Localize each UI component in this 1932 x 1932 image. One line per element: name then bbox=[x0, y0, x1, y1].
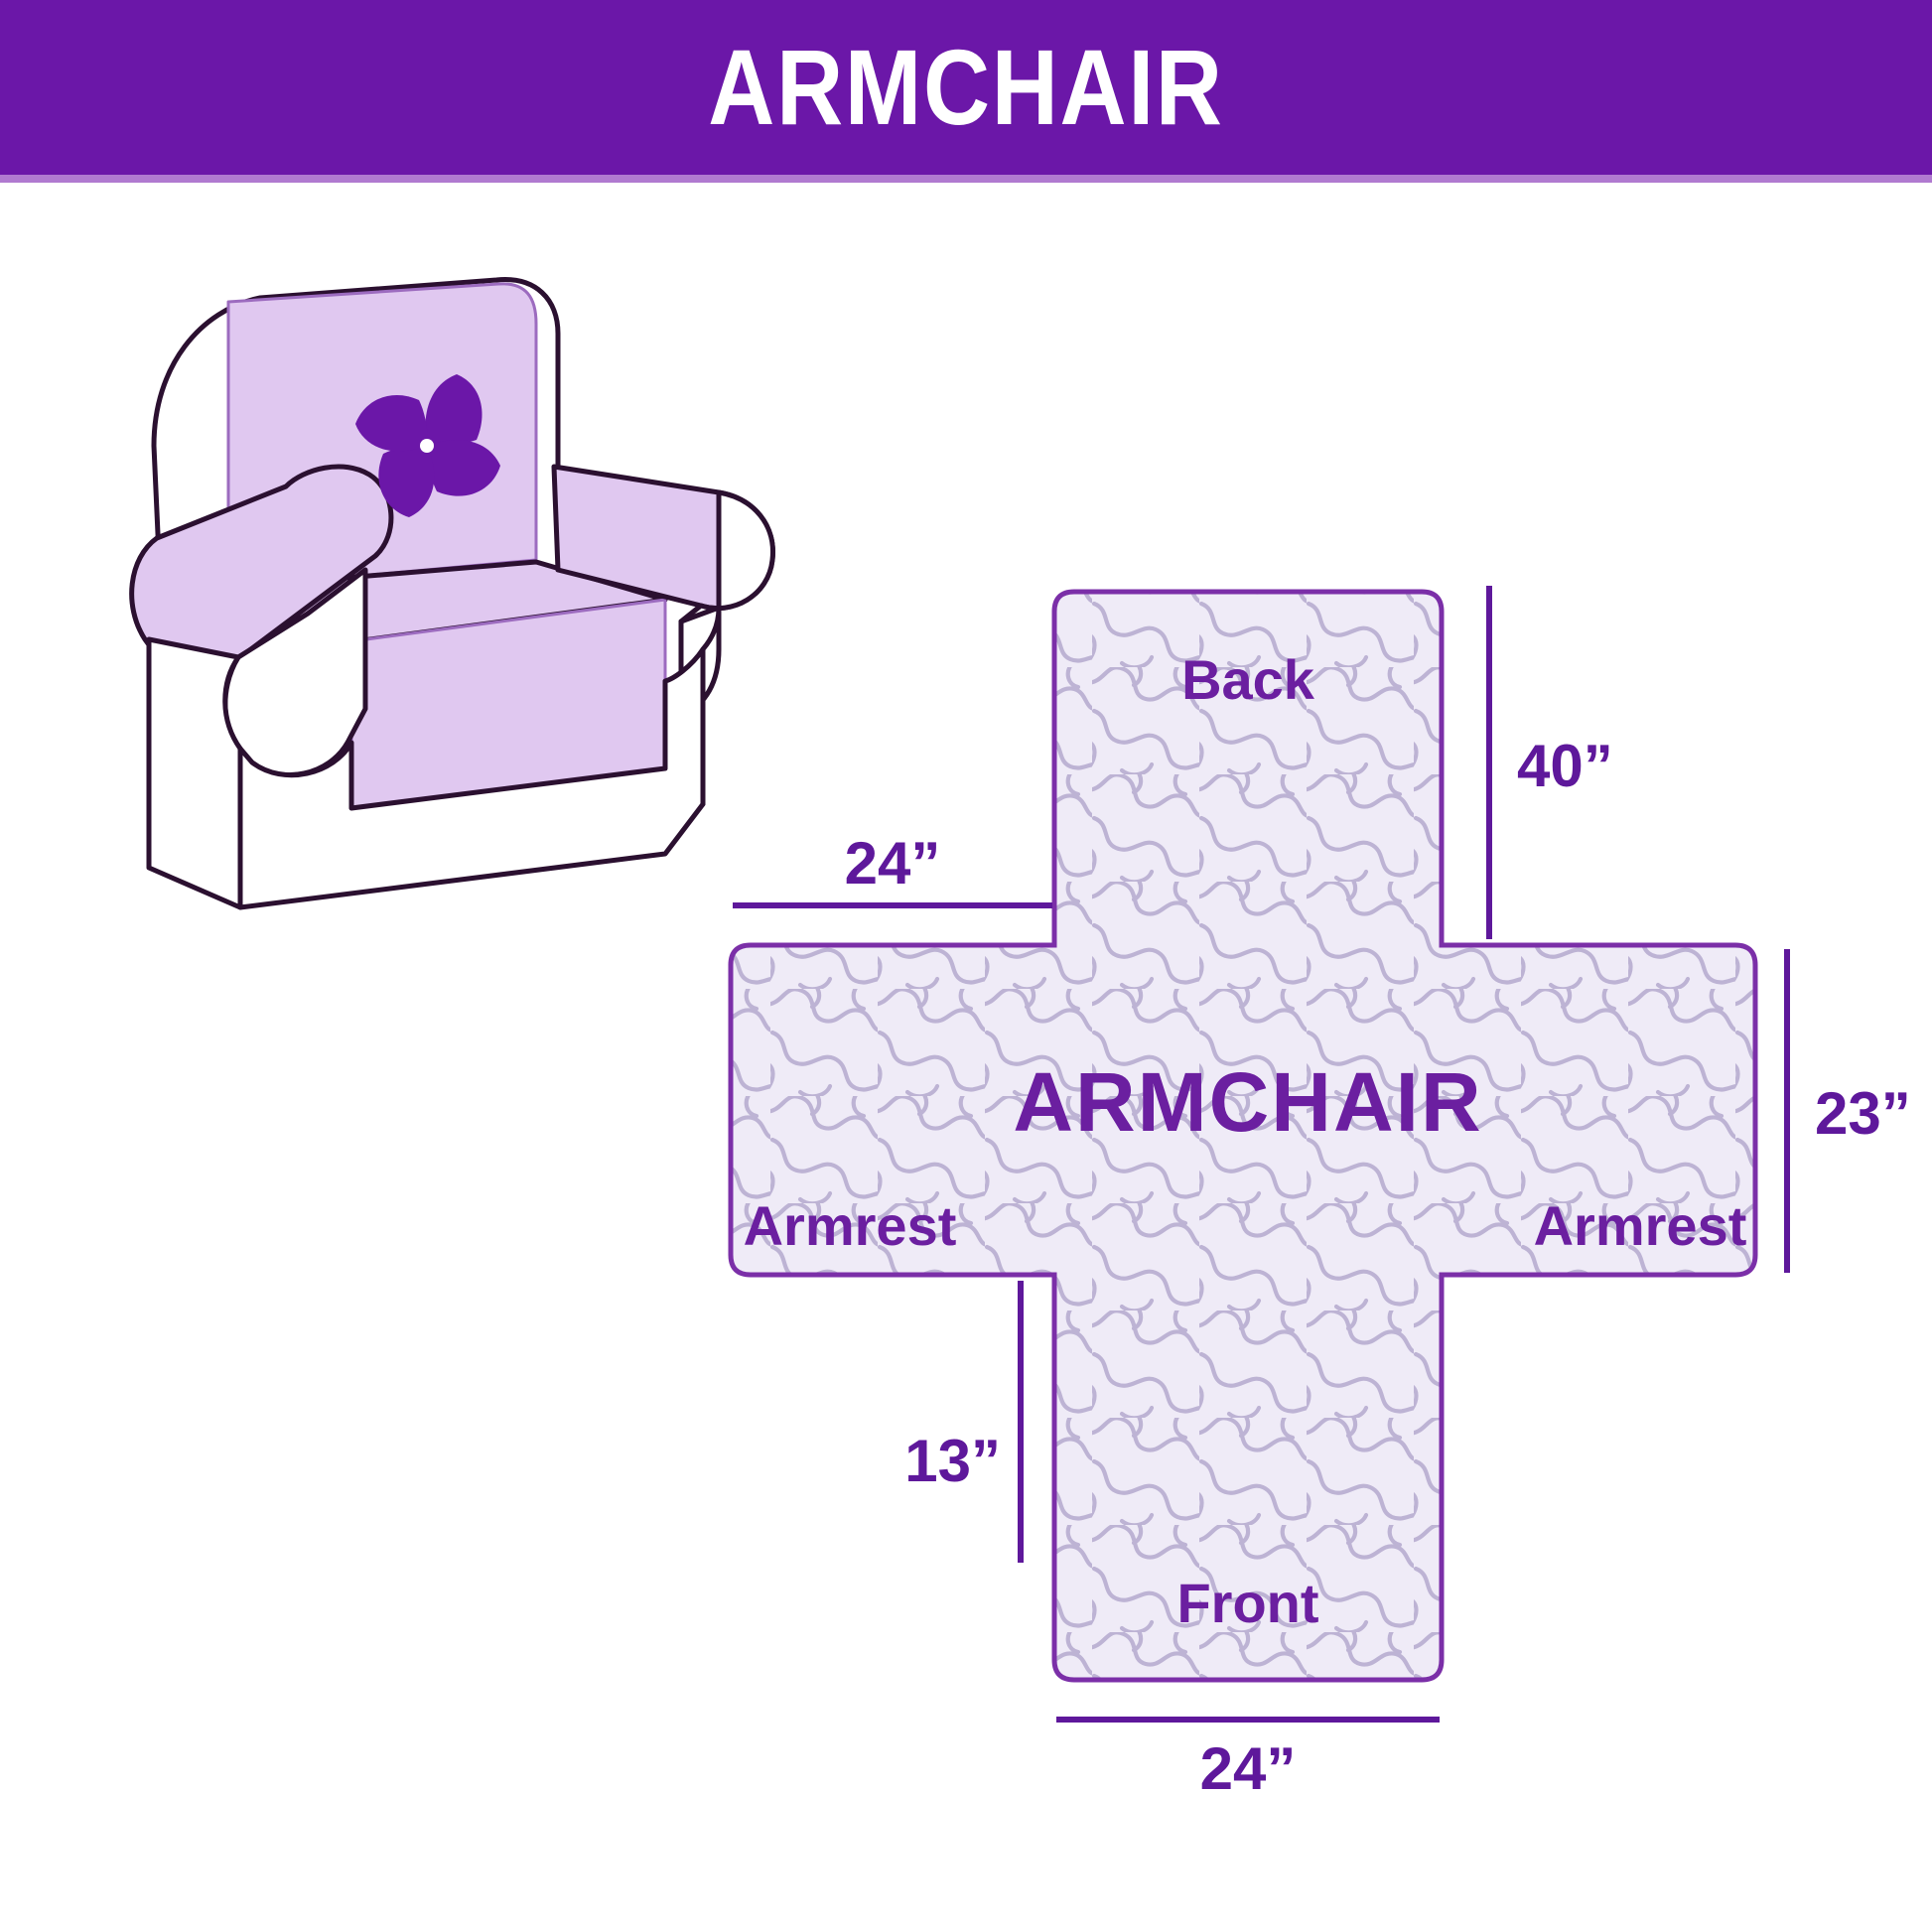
dimension-label-front-height: 13” bbox=[904, 1428, 1001, 1494]
header-banner: ARMCHAIR bbox=[0, 0, 1932, 175]
fan-hub-icon bbox=[420, 439, 434, 453]
dimension-label-armrest-width: 24” bbox=[845, 830, 941, 897]
header-underline-divider bbox=[0, 175, 1932, 183]
cover-cross-svg: Back ARMCHAIR Armrest Armrest Front 40” … bbox=[556, 560, 1932, 1920]
dimension-label-front-width: 24” bbox=[1200, 1735, 1297, 1802]
dimension-armrest-width: 24” bbox=[733, 830, 1052, 905]
chair-left-side-body bbox=[149, 639, 240, 907]
panel-label-armrest-left: Armrest bbox=[744, 1194, 957, 1257]
dimension-center-height: 23” bbox=[1787, 949, 1911, 1273]
cover-center-label: ARMCHAIR bbox=[1013, 1055, 1482, 1149]
dimension-back-height: 40” bbox=[1489, 586, 1613, 939]
cover-cross-diagram: Back ARMCHAIR Armrest Armrest Front 40” … bbox=[556, 560, 1932, 1920]
dimension-label-center-height: 23” bbox=[1815, 1080, 1911, 1147]
page-title: ARMCHAIR bbox=[708, 34, 1223, 141]
content-stage: Back ARMCHAIR Armrest Armrest Front 40” … bbox=[0, 183, 1932, 1932]
dimension-front-width: 24” bbox=[1056, 1720, 1440, 1802]
dimension-label-back-height: 40” bbox=[1517, 733, 1613, 799]
panel-label-armrest-right: Armrest bbox=[1534, 1194, 1747, 1257]
panel-label-front: Front bbox=[1176, 1572, 1318, 1634]
panel-label-back: Back bbox=[1181, 648, 1315, 711]
dimension-front-height: 13” bbox=[904, 1281, 1021, 1563]
